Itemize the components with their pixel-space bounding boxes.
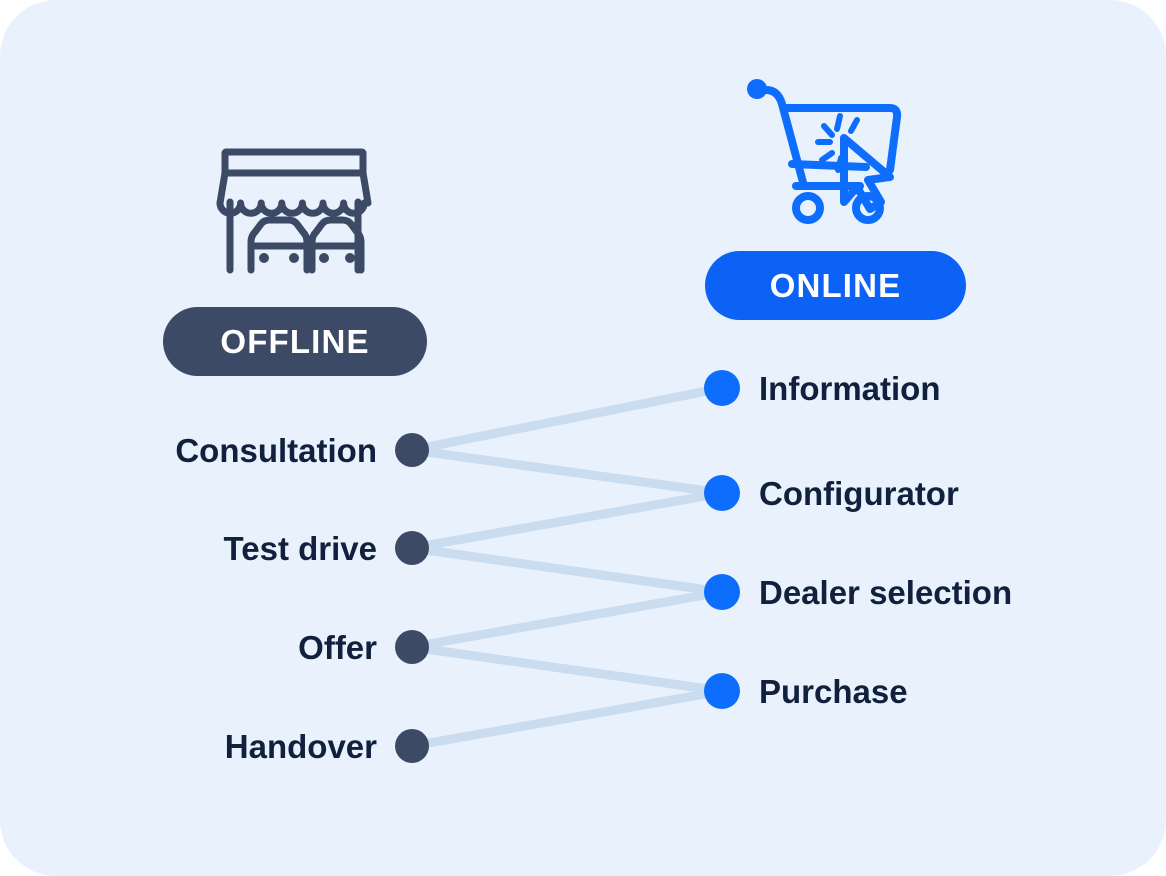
online-step-dealer-selection[interactable]: Dealer selection	[704, 572, 1012, 612]
online-step-dot[interactable]	[704, 370, 740, 406]
online-step-dot[interactable]	[704, 673, 740, 709]
online-step-purchase[interactable]: Purchase	[704, 671, 908, 711]
car-dealership-storefront-icon	[214, 146, 374, 276]
journey-card: OFFLINE ONLINE Consultation Test drive O…	[0, 0, 1166, 876]
shopping-cart-click-icon	[744, 76, 916, 228]
offline-step-label: Handover	[225, 730, 377, 763]
online-badge[interactable]: ONLINE	[705, 251, 966, 320]
offline-step-label: Consultation	[175, 434, 377, 467]
offline-step-label: Test drive	[224, 532, 377, 565]
online-step-dot[interactable]	[704, 574, 740, 610]
online-step-information[interactable]: Information	[704, 368, 940, 408]
online-step-label: Information	[759, 372, 940, 405]
offline-step-handover[interactable]: Handover	[225, 726, 429, 766]
offline-badge[interactable]: OFFLINE	[163, 307, 427, 376]
offline-step-test-drive[interactable]: Test drive	[224, 528, 429, 568]
offline-step-label: Offer	[298, 631, 377, 664]
online-step-label: Purchase	[759, 675, 908, 708]
offline-badge-label: OFFLINE	[220, 323, 369, 361]
offline-step-dot[interactable]	[395, 630, 429, 664]
offline-step-dot[interactable]	[395, 531, 429, 565]
offline-step-consultation[interactable]: Consultation	[175, 430, 429, 470]
offline-step-dot[interactable]	[395, 729, 429, 763]
offline-step-offer[interactable]: Offer	[298, 627, 429, 667]
online-badge-label: ONLINE	[770, 267, 902, 305]
online-step-configurator[interactable]: Configurator	[704, 473, 959, 513]
online-step-label: Dealer selection	[759, 576, 1012, 609]
offline-step-dot[interactable]	[395, 433, 429, 467]
online-step-dot[interactable]	[704, 475, 740, 511]
online-step-label: Configurator	[759, 477, 959, 510]
